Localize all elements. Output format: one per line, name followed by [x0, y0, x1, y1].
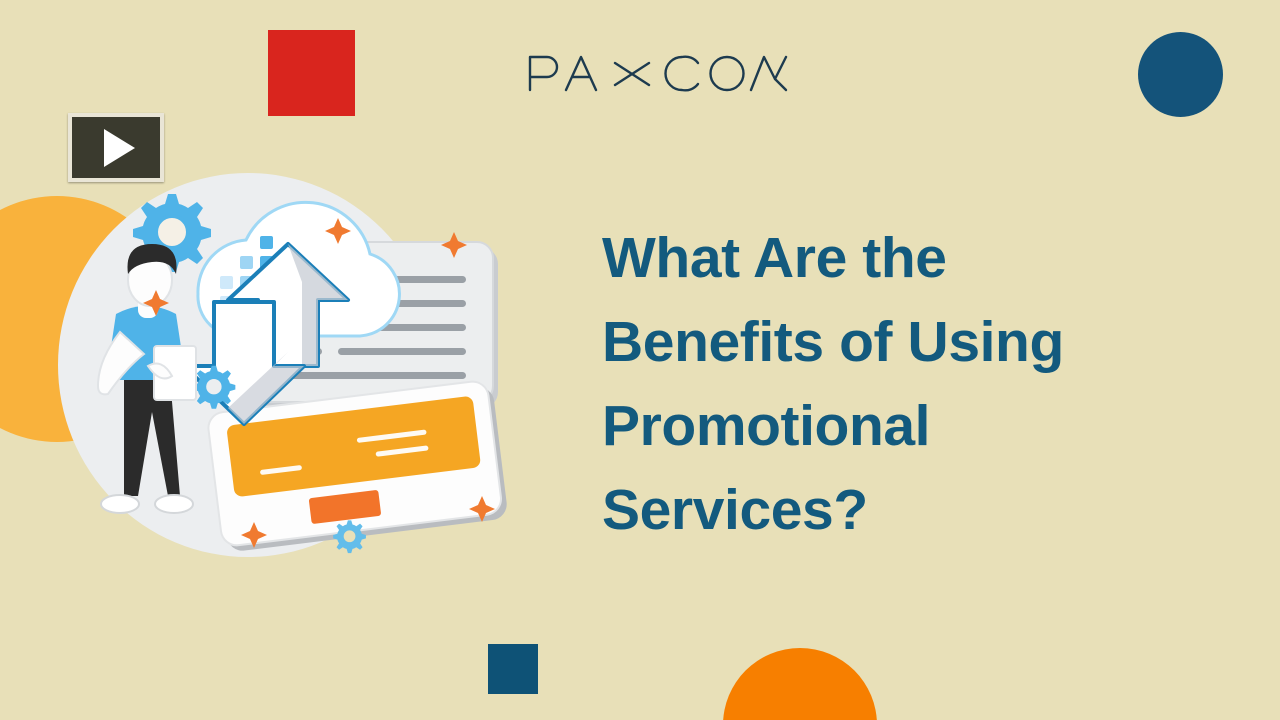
- red-square-decoration: [268, 30, 355, 116]
- cloud-sync-illustration: [50, 170, 530, 580]
- slide-canvas: What Are the Benefits of Using Promotion…: [0, 0, 1280, 720]
- paxcom-logo: [527, 53, 789, 93]
- navy-square-decoration: [488, 644, 538, 694]
- play-button[interactable]: [68, 113, 164, 182]
- orange-circle-decoration: [723, 648, 877, 720]
- shoe-left: [101, 495, 139, 513]
- play-triangle-icon: [104, 129, 135, 167]
- title-block: What Are the Benefits of Using Promotion…: [602, 216, 1172, 552]
- gear-tiny-icon: [333, 520, 366, 553]
- gear-small-icon: [192, 366, 235, 409]
- shoe-right: [155, 495, 193, 513]
- navy-circle-decoration: [1138, 32, 1223, 117]
- page-title: What Are the Benefits of Using Promotion…: [602, 216, 1172, 552]
